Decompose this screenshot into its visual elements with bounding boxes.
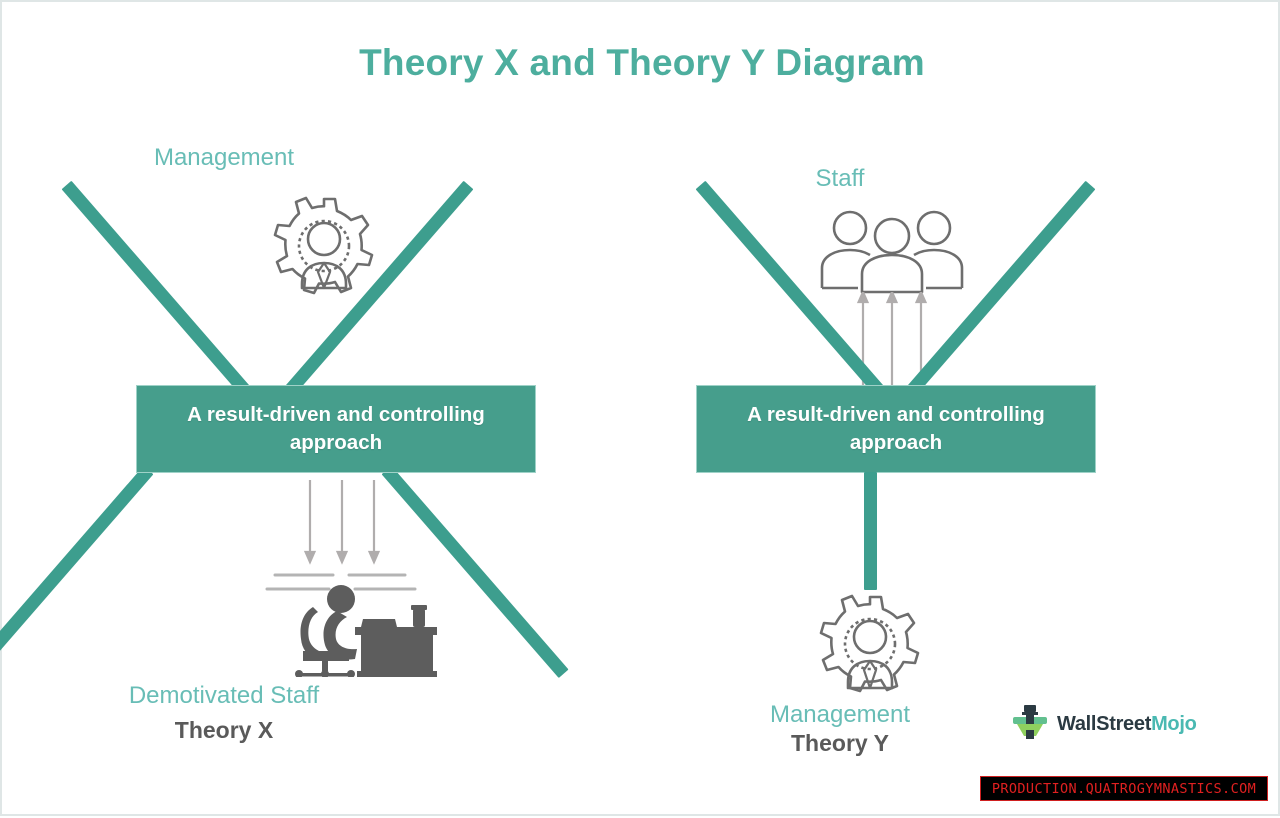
theory-x-panel: Management A result-driven and controlli…: [62, 2, 622, 818]
theory-x-approach-box: A result-driven and controlling approach: [136, 385, 536, 473]
gear-person-icon: [264, 192, 384, 302]
diagonal-bar-bottom-left: [0, 466, 153, 678]
footer-url-text: PRODUCTION.QUATROGYMNASTICS.COM: [992, 781, 1256, 797]
watermark-text-secondary: Mojo: [1151, 713, 1196, 735]
vertical-connector-bar: [864, 472, 877, 590]
theory-x-top-label: Management: [0, 144, 504, 172]
theory-x-bottom-label: Demotivated Staff: [0, 682, 504, 710]
watermark-text: WallStreetMojo: [1057, 713, 1197, 736]
demotivated-worker-desk-icon: [237, 567, 447, 677]
theory-y-panel: Staff: [642, 2, 1202, 818]
diagonal-bar-top-left: [62, 181, 257, 402]
theory-x-approach-text: A result-driven and controlling approach: [153, 401, 519, 458]
watermark-text-primary: WallStreet: [1057, 713, 1151, 735]
wallstreetmojo-logo-icon: [1010, 702, 1050, 747]
theory-y-approach-text: A result-driven and controlling approach: [713, 401, 1079, 458]
watermark: WallStreetMojo: [1010, 702, 1197, 747]
gear-person-icon: [810, 590, 930, 700]
theory-y-top-label: Staff: [560, 165, 1120, 193]
theory-x-theory-label: Theory X: [0, 717, 504, 744]
theory-y-approach-box: A result-driven and controlling approach: [696, 385, 1096, 473]
diagram-canvas: Theory X and Theory Y Diagram Management…: [0, 0, 1280, 816]
footer-url-bar: PRODUCTION.QUATROGYMNASTICS.COM: [980, 776, 1268, 801]
theory-x-gray-arrows: [292, 480, 392, 566]
three-people-icon: [812, 204, 972, 294]
